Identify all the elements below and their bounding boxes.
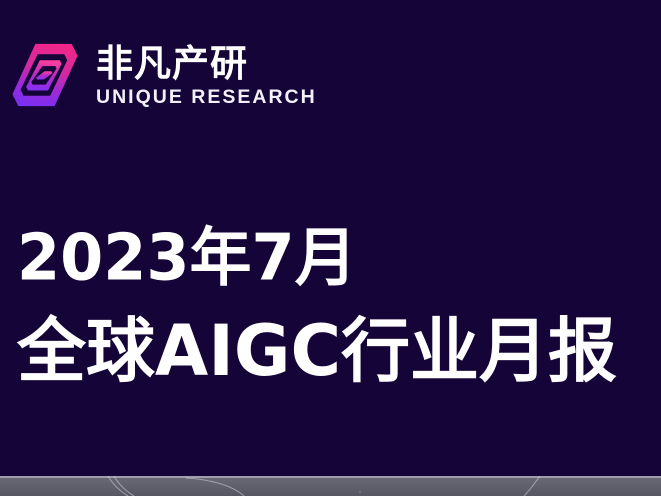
- brand-name-cn: 非凡产研: [96, 45, 317, 83]
- headline-line-2: 全球AIGC行业月报: [17, 312, 647, 390]
- unique-research-logo-icon: [8, 38, 82, 112]
- headline-line-1: 2023年7月: [17, 222, 657, 294]
- bottom-decorative-band: [0, 476, 661, 496]
- brand-text-block: 非凡产研 UNIQUE RESEARCH: [96, 43, 317, 107]
- headline-block: 2023年7月 全球AIGC行业月报: [17, 222, 657, 390]
- brand-name-en: UNIQUE RESEARCH: [96, 87, 317, 107]
- cover-slide: 非凡产研 UNIQUE RESEARCH 2023年7月 全球AIGC行业月报: [0, 0, 661, 496]
- band-light-streaks: [0, 476, 661, 496]
- brand-lockup: 非凡产研 UNIQUE RESEARCH: [8, 38, 317, 112]
